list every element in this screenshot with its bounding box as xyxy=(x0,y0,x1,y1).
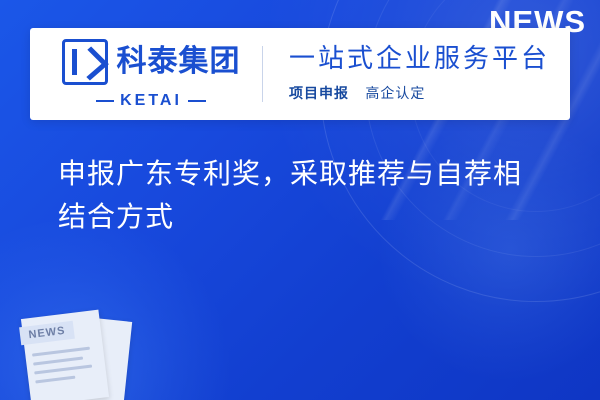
dash-left-icon xyxy=(96,100,114,102)
slogan-tag-2: 高企认定 xyxy=(365,86,425,102)
brand-header-card: 科泰集团 KETAI 一站式企业服务平台 项目申报 高企认定 xyxy=(30,28,570,120)
ketai-monogram-icon xyxy=(62,39,108,85)
logo-company-name-cn: 科泰集团 xyxy=(117,47,241,77)
slogan-main-text: 一站式企业服务平台 xyxy=(289,45,570,75)
news-banner: NEWS 科泰集团 KETAI 一站式企业服务平台 项目申报 高企认定 申报广东… xyxy=(0,0,600,400)
slogan-tag-1: 项目申报 xyxy=(289,86,349,102)
headline-text: 申报广东专利奖，采取推荐与自荐相结合方式 xyxy=(58,152,538,239)
slogan-block: 一站式企业服务平台 项目申报 高企认定 xyxy=(263,45,570,103)
newspaper-illustration: NEWS xyxy=(20,310,132,400)
logo-company-name-en: KETAI xyxy=(96,92,206,110)
slogan-sub-text: 项目申报 高企认定 xyxy=(289,83,570,103)
logo-en-text: KETAI xyxy=(120,92,182,110)
dash-right-icon xyxy=(188,100,206,102)
logo-block: 科泰集团 KETAI xyxy=(30,28,262,120)
newspaper-text-lines xyxy=(32,347,94,390)
